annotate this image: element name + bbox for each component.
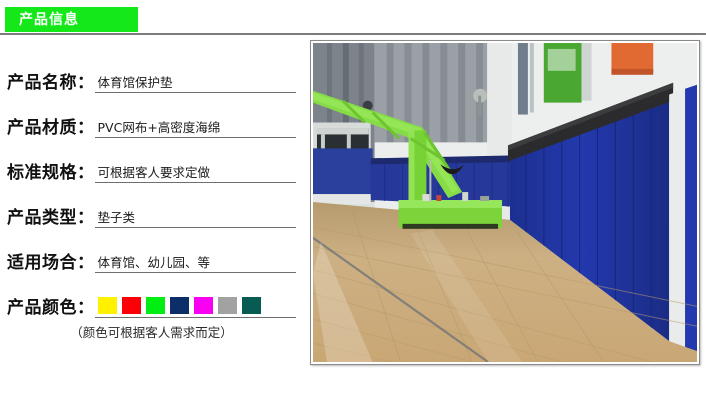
spec-value-underline: 体育馆保护垫: [95, 74, 297, 93]
color-swatch-green: [146, 297, 165, 314]
product-spec-list: 产品名称： 体育馆保护垫 产品材质： PVC网布+高密度海绵 标准规格： 可根据…: [0, 48, 305, 368]
spec-value: PVC网布+高密度海绵: [95, 119, 221, 136]
spec-row-product-color: 产品颜色：: [0, 273, 305, 318]
spec-label: 标准规格：: [7, 163, 95, 183]
color-swatch-red: [122, 297, 141, 314]
color-swatch-teal: [242, 297, 261, 314]
spec-label: 产品颜色：: [7, 298, 95, 318]
spec-label: 适用场合：: [7, 253, 95, 273]
color-swatch-gray: [218, 297, 237, 314]
section-title: 产品信息: [19, 13, 79, 27]
page-header: 产品信息: [0, 0, 706, 36]
spec-value: 体育馆保护垫: [95, 74, 173, 91]
spec-row-product-type: 产品类型： 垫子类: [0, 183, 305, 228]
color-swatch-navy: [170, 297, 189, 314]
spec-value: 可根据客人要求定做: [95, 164, 211, 181]
header-divider: [0, 33, 706, 35]
color-swatch-strip: [95, 297, 261, 316]
spec-value-underline: 可根据客人要求定做: [95, 164, 297, 183]
spec-label: 产品类型：: [7, 208, 95, 228]
spec-row-material: 产品材质： PVC网布+高密度海绵: [0, 93, 305, 138]
spec-label: 产品名称：: [7, 73, 95, 93]
spec-row-application: 适用场合： 体育馆、幼儿园、等: [0, 228, 305, 273]
color-note-text: （颜色可根据客人需求而定）: [70, 325, 233, 340]
spec-value: 垫子类: [95, 209, 136, 226]
product-photo-frame: [310, 40, 700, 365]
section-banner: 产品信息: [5, 7, 138, 32]
product-photo: [313, 43, 697, 362]
color-note-row: （颜色可根据客人需求而定）: [0, 322, 296, 341]
color-swatch-yellow: [98, 297, 117, 314]
spec-value-underline: 体育馆、幼儿园、等: [95, 254, 297, 273]
spec-value: 体育馆、幼儿园、等: [95, 254, 211, 271]
gymnasium-scene: [313, 43, 697, 362]
spec-value-underline: [95, 297, 297, 318]
spec-row-standard-size: 标准规格： 可根据客人要求定做: [0, 138, 305, 183]
color-swatch-magenta: [194, 297, 213, 314]
spec-row-product-name: 产品名称： 体育馆保护垫: [0, 48, 305, 93]
spec-label: 产品材质：: [7, 118, 95, 138]
spec-value-underline: PVC网布+高密度海绵: [95, 119, 297, 138]
spec-value-underline: 垫子类: [95, 209, 297, 228]
